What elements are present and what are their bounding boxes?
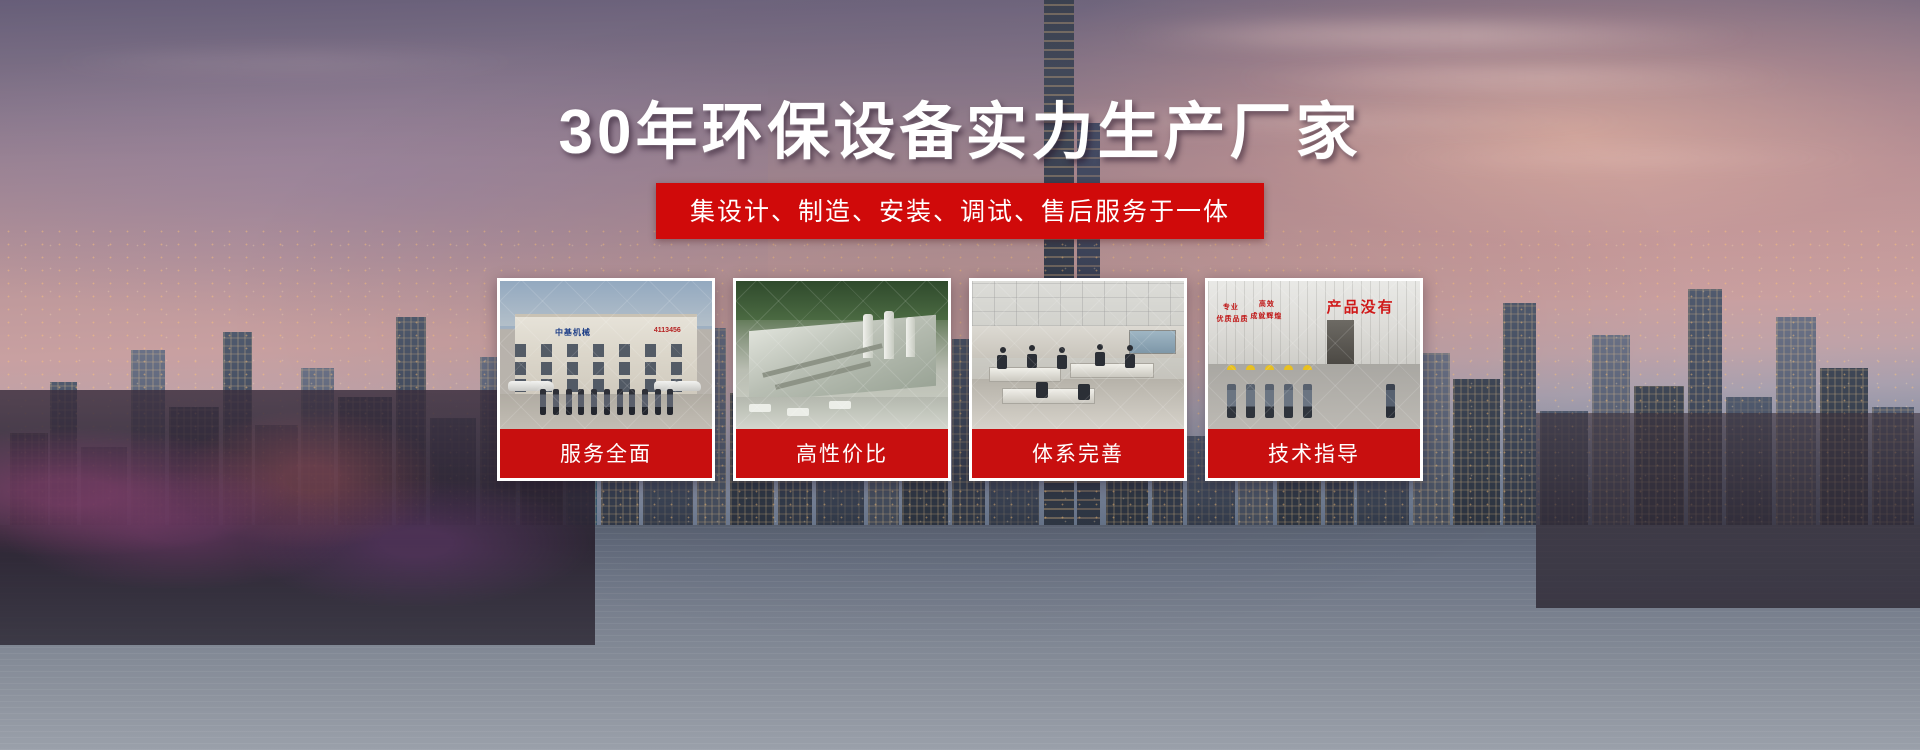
factory-banner-text: 产品没有	[1306, 290, 1416, 323]
page-title: 30年环保设备实力生产厂家	[559, 98, 1362, 167]
feature-card-list: 中基机械 4113456	[497, 278, 1423, 481]
feature-card[interactable]: 体系完善	[969, 278, 1187, 481]
subtitle-badge: 集设计、制造、安装、调试、售后服务于一体	[656, 183, 1264, 239]
factory-slogan-mid: 高效	[1259, 299, 1275, 309]
building-phone-text: 4113456	[654, 327, 681, 334]
card-photo-office-interior	[972, 281, 1184, 429]
card-caption: 技术指导	[1208, 429, 1420, 478]
hero-banner: 30年环保设备实力生产厂家 集设计、制造、安装、调试、售后服务于一体 中基机械 …	[0, 0, 1920, 750]
card-photo-office-building: 中基机械 4113456	[500, 281, 712, 429]
feature-card[interactable]: 中基机械 4113456	[497, 278, 715, 481]
factory-slogan-left2: 优质品质	[1216, 314, 1248, 324]
factory-slogan-left: 专业	[1223, 302, 1239, 312]
banner-content: 30年环保设备实力生产厂家 集设计、制造、安装、调试、售后服务于一体 中基机械 …	[0, 0, 1920, 750]
building-sign-text: 中基机械	[555, 327, 591, 338]
card-photo-production-plant	[736, 281, 948, 429]
feature-card[interactable]: 产品没有 专业 优质品质 高效 成就辉煌	[1205, 278, 1423, 481]
card-photo-factory-workers: 产品没有 专业 优质品质 高效 成就辉煌	[1208, 281, 1420, 429]
card-caption: 服务全面	[500, 429, 712, 478]
card-caption: 高性价比	[736, 429, 948, 478]
factory-slogan-mid2: 成就辉煌	[1250, 311, 1282, 321]
card-caption: 体系完善	[972, 429, 1184, 478]
feature-card[interactable]: 高性价比	[733, 278, 951, 481]
